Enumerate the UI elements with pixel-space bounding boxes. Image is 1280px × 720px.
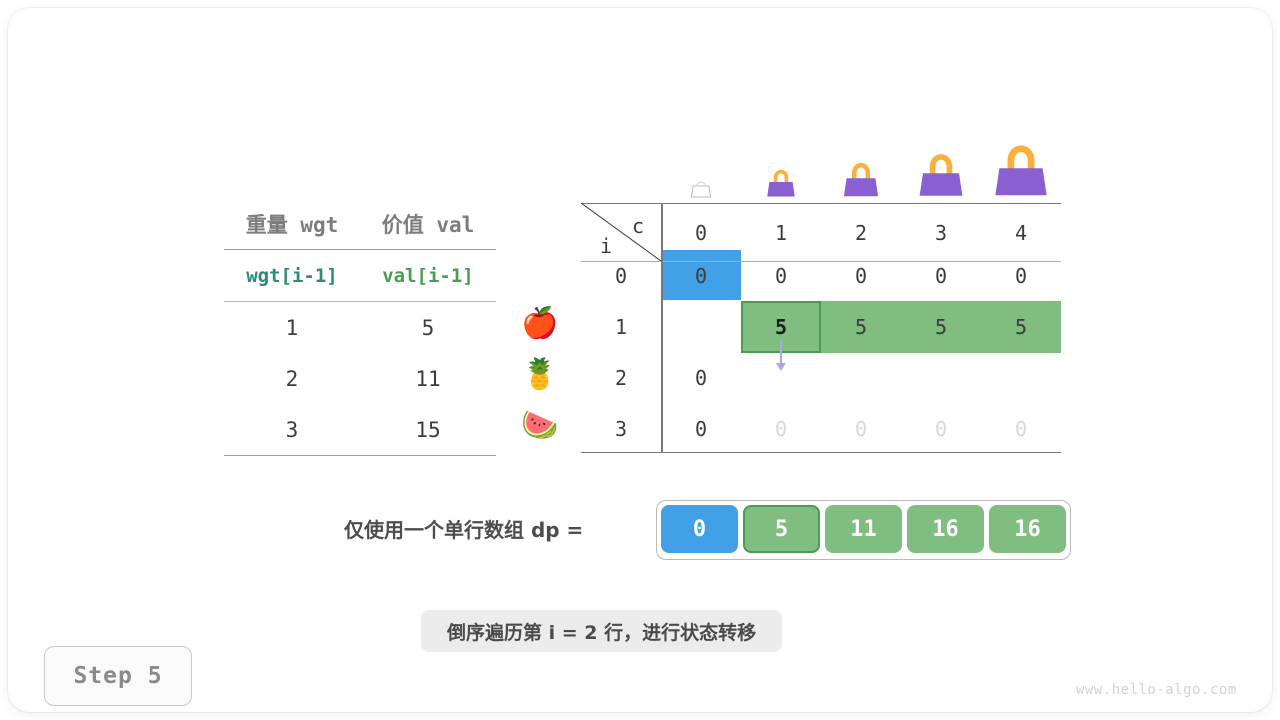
matrix-rule-bottom bbox=[581, 452, 1061, 453]
dp-array-cell-1[interactable]: 5 bbox=[743, 505, 820, 553]
wv-header-row: 重量 wgt 价值 val bbox=[224, 198, 496, 249]
matrix-cell-0-2: 0 bbox=[855, 264, 867, 288]
matrix-col-axis-label: c bbox=[632, 214, 644, 238]
matrix-row-header-3: 3 bbox=[615, 417, 627, 441]
wv-subheader-row: wgt[i-1] val[i-1] bbox=[224, 250, 496, 301]
matrix-row-header-0: 0 bbox=[615, 264, 627, 288]
matrix-cell-1-0: 0 bbox=[695, 315, 707, 339]
matrix-col-header-3: 3 bbox=[935, 221, 947, 245]
bag-icon-capacity-0 bbox=[690, 178, 712, 198]
matrix-cell-0-0: 0 bbox=[695, 264, 707, 288]
wv-rule-bottom bbox=[224, 455, 496, 456]
matrix-col-header-2: 2 bbox=[855, 221, 867, 245]
matrix-corner-diagonal bbox=[581, 203, 661, 261]
table-row: 3 15 bbox=[224, 404, 496, 455]
caption-pill: 倒序遍历第 i = 2 行，进行状态转移 bbox=[421, 610, 782, 652]
wv-value-3: 15 bbox=[360, 418, 496, 442]
bag-icon-capacity-1 bbox=[765, 169, 797, 198]
matrix-col-header-4: 4 bbox=[1015, 221, 1027, 245]
matrix-cell-2-2: 11 bbox=[849, 366, 873, 390]
bag-icons-row bbox=[581, 138, 1061, 198]
pineapple-icon: 🍍 bbox=[516, 360, 564, 390]
matrix-cell-0-1: 0 bbox=[775, 264, 787, 288]
matrix-row-header-2: 2 bbox=[615, 366, 627, 390]
wv-weight-3: 3 bbox=[224, 418, 360, 442]
matrix-cell-0-4: 0 bbox=[1015, 264, 1027, 288]
bag-icon-capacity-2 bbox=[841, 162, 881, 198]
weight-value-table: 重量 wgt 价值 val wgt[i-1] val[i-1] 1 5 2 11… bbox=[224, 198, 496, 456]
matrix-cell-1-3: 5 bbox=[935, 315, 947, 339]
wv-header-weight: 重量 wgt bbox=[224, 209, 360, 239]
dp-array-label: 仅使用一个单行数组 dp = bbox=[344, 514, 583, 543]
matrix-col-header-0: 0 bbox=[695, 221, 707, 245]
wv-value-1: 5 bbox=[360, 316, 496, 340]
matrix-rule-header bbox=[581, 261, 1061, 262]
state-transition-arrow bbox=[774, 338, 788, 378]
step-badge: Step 5 bbox=[44, 646, 192, 706]
matrix-cell-2-0: 0 bbox=[695, 366, 707, 390]
bag-icon-capacity-4 bbox=[991, 144, 1051, 198]
wv-subheader-wgt: wgt[i-1] bbox=[224, 265, 360, 287]
matrix-cell-3-1: 0 bbox=[775, 417, 787, 441]
matrix-row-axis-label: i bbox=[600, 234, 612, 258]
dp-array-cell-3[interactable]: 16 bbox=[907, 505, 984, 553]
matrix-cell-3-4: 0 bbox=[1015, 417, 1027, 441]
matrix-cell-3-0: 0 bbox=[695, 417, 707, 441]
dp-array-cell-2[interactable]: 11 bbox=[825, 505, 902, 553]
matrix-row-header-1: 1 bbox=[615, 315, 627, 339]
matrix-cell-2-3: 16 bbox=[929, 366, 953, 390]
dp-matrix: c i 0 1 2 3 4 0 1 2 3 0 0 0 0 0 0 5 5 5 … bbox=[581, 138, 1061, 453]
matrix-cell-1-1: 5 bbox=[775, 315, 787, 339]
matrix-divider-vertical bbox=[661, 203, 663, 453]
slide-card: 重量 wgt 价值 val wgt[i-1] val[i-1] 1 5 2 11… bbox=[8, 8, 1272, 712]
wv-subheader-val: val[i-1] bbox=[360, 265, 496, 287]
watermark: www.hello-algo.com bbox=[1076, 682, 1237, 698]
matrix-cell-1-2: 5 bbox=[855, 315, 867, 339]
dp-array-cell-4[interactable]: 16 bbox=[989, 505, 1066, 553]
matrix-cell-0-3: 0 bbox=[935, 264, 947, 288]
table-row: 2 11 bbox=[224, 353, 496, 404]
apple-icon: 🍎 bbox=[516, 309, 564, 339]
table-row: 1 5 bbox=[224, 302, 496, 353]
dp-array-container: 0 5 11 16 16 bbox=[656, 500, 1071, 560]
wv-header-value: 价值 val bbox=[360, 209, 496, 239]
wv-weight-1: 1 bbox=[224, 316, 360, 340]
dp-array-cell-0[interactable]: 0 bbox=[661, 505, 738, 553]
bag-icon-capacity-3 bbox=[916, 153, 966, 198]
wv-value-2: 11 bbox=[360, 367, 496, 391]
matrix-cell-3-2: 0 bbox=[855, 417, 867, 441]
wv-weight-2: 2 bbox=[224, 367, 360, 391]
matrix-cell-1-4: 5 bbox=[1015, 315, 1027, 339]
watermelon-icon: 🍉 bbox=[516, 411, 564, 441]
matrix-cell-2-4: 16 bbox=[1009, 366, 1033, 390]
matrix-col-header-1: 1 bbox=[775, 221, 787, 245]
matrix-cell-3-3: 0 bbox=[935, 417, 947, 441]
